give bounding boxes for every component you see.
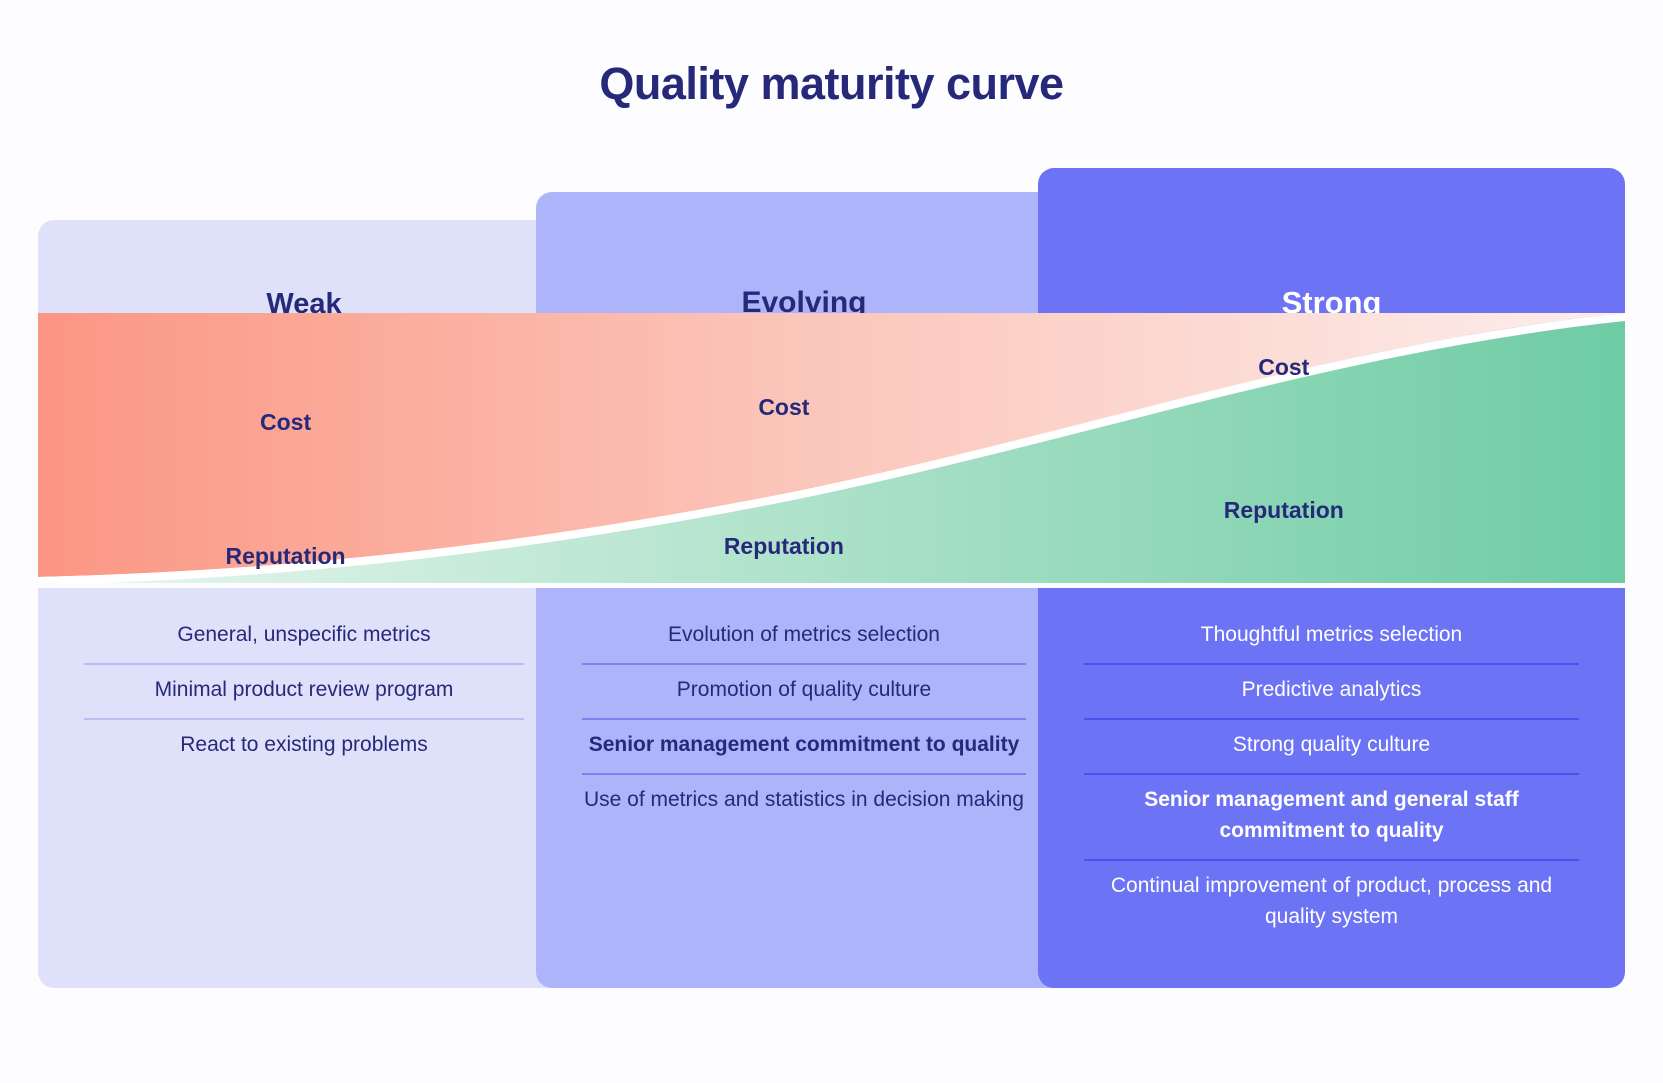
list-item: React to existing problems xyxy=(84,718,524,773)
band-label-reputation-strong: Reputation xyxy=(1224,497,1344,524)
stage-detail-panel-evolving: Evolution of metrics selection Promotion… xyxy=(536,588,1072,988)
band-label-cost-strong: Cost xyxy=(1258,354,1309,381)
band-label-cost-evolving: Cost xyxy=(758,394,809,421)
list-item: Senior management commitment to quality xyxy=(582,718,1026,773)
list-item: Predictive analytics xyxy=(1084,663,1579,718)
infographic-canvas: Quality maturity curve Weak Quality cont… xyxy=(0,0,1663,1083)
band-label-reputation-evolving: Reputation xyxy=(724,533,844,560)
list-item: General, unspecific metrics xyxy=(84,610,524,663)
list-item: Minimal product review program xyxy=(84,663,524,718)
page-title: Quality maturity curve xyxy=(0,58,1663,110)
band-label-cost-weak: Cost xyxy=(260,409,311,436)
maturity-stage-diagram: Weak Quality control Evolving Quality co… xyxy=(38,168,1625,988)
stage-detail-panel-strong: Thoughtful metrics selection Predictive … xyxy=(1038,588,1625,988)
list-item: Use of metrics and statistics in decisio… xyxy=(582,773,1026,828)
list-item: Evolution of metrics selection xyxy=(582,610,1026,663)
list-item: Promotion of quality culture xyxy=(582,663,1026,718)
list-item: Senior management and general staff comm… xyxy=(1084,773,1579,859)
list-item: Strong quality culture xyxy=(1084,718,1579,773)
stage-detail-panel-weak: General, unspecific metrics Minimal prod… xyxy=(38,588,570,988)
band-label-reputation-weak: Reputation xyxy=(226,543,346,570)
list-item: Continual improvement of product, proces… xyxy=(1084,859,1579,945)
cost-reputation-curve-band: Cost Cost Cost Reputation Reputation Rep… xyxy=(38,313,1625,583)
list-item: Thoughtful metrics selection xyxy=(1084,610,1579,663)
